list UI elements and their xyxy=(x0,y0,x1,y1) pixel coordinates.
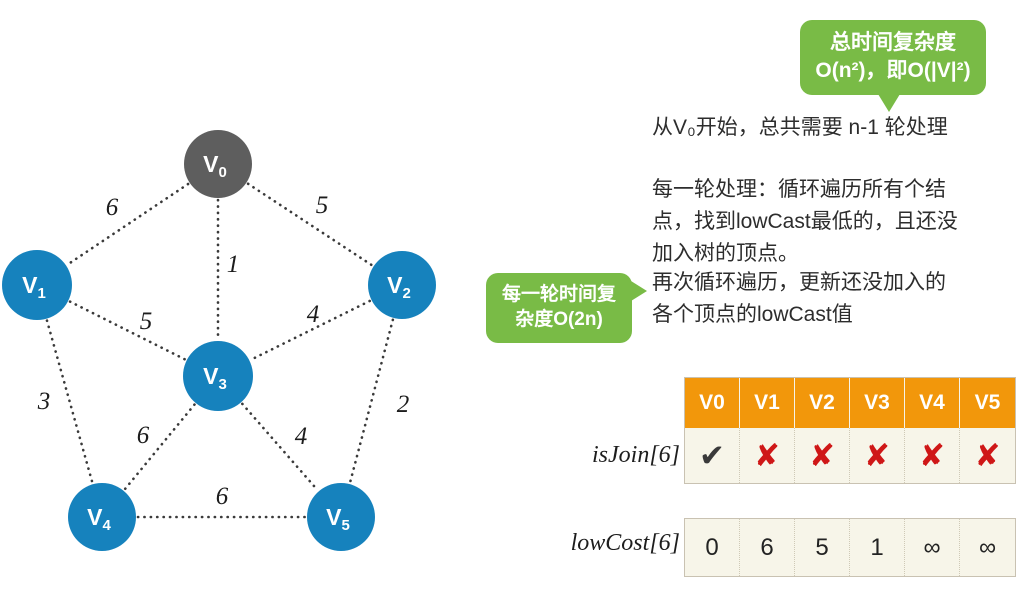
edge-weight-v3-v4: 6 xyxy=(137,422,150,449)
vertex-header-cell: V5 xyxy=(960,378,1015,428)
edge-weight-v1-v3: 5 xyxy=(140,308,153,335)
check-icon: ✔ xyxy=(699,440,725,471)
callout-round-line1: 每一轮时间复 xyxy=(492,282,626,307)
graph-edge-v1-v4 xyxy=(47,321,92,483)
lowcost-cell-v5: ∞ xyxy=(960,519,1015,576)
note-line: 各个顶点的lowCast值 xyxy=(652,299,1012,331)
lowcost-value-row: 0651∞∞ xyxy=(684,518,1016,577)
isjoin-row-label: isJoin[6] xyxy=(500,442,680,469)
isjoin-cell-v5: ✘ xyxy=(960,428,1015,483)
callout-tail-right xyxy=(631,281,647,301)
edge-weight-v2-v3: 4 xyxy=(307,301,320,328)
lowcost-cell-v0: 0 xyxy=(685,519,740,576)
graph-node-v5[interactable]: V5 xyxy=(307,483,375,551)
isjoin-value-row: ✔✘✘✘✘✘ xyxy=(684,428,1016,484)
vertex-header-cell: V0 xyxy=(685,378,740,428)
cross-icon: ✘ xyxy=(754,440,780,471)
edge-weight-v4-v5: 6 xyxy=(216,483,229,510)
note-line: 从V₀开始，总共需要 n-1 轮处理 xyxy=(652,112,1012,144)
isjoin-cell-v3: ✘ xyxy=(850,428,905,483)
isjoin-cell-v1: ✘ xyxy=(740,428,795,483)
edge-weight-v0-v3: 1 xyxy=(227,251,240,278)
note-line: 加入树的顶点。 xyxy=(652,238,1012,270)
cross-icon: ✘ xyxy=(809,440,835,471)
edge-weight-v2-v5: 2 xyxy=(397,391,410,418)
isjoin-cell-v0: ✔ xyxy=(685,428,740,483)
callout-total-line1: 总时间复杂度 xyxy=(806,29,980,57)
vertex-header-cell: V2 xyxy=(795,378,850,428)
lowcost-cell-v2: 5 xyxy=(795,519,850,576)
vertex-header-cell: V3 xyxy=(850,378,905,428)
graph-node-v3[interactable]: V3 xyxy=(183,341,253,411)
vertex-header-row: V0V1V2V3V4V5 xyxy=(684,377,1016,429)
note-paragraph-3: 再次循环遍历，更新还没加入的各个顶点的lowCast值 xyxy=(652,267,1012,331)
isjoin-cell-v2: ✘ xyxy=(795,428,850,483)
graph-node-v1[interactable]: V1 xyxy=(2,250,72,320)
graph-node-v2[interactable]: V2 xyxy=(368,251,436,319)
graph-edge-v1-v3 xyxy=(70,302,185,360)
callout-per-round-complexity: 每一轮时间复 杂度O(2n) xyxy=(486,273,632,343)
note-paragraph-1: 从V₀开始，总共需要 n-1 轮处理 xyxy=(652,112,1012,144)
graph-edge-v3-v4 xyxy=(125,405,195,490)
right-panel: 总时间复杂度 O(n²)，即O(|V|²) 每一轮时间复 杂度O(2n) 从V₀… xyxy=(470,0,1029,599)
cross-icon: ✘ xyxy=(919,440,945,471)
lowcost-cell-v4: ∞ xyxy=(905,519,960,576)
note-paragraph-2: 每一轮处理：循环遍历所有个结点，找到lowCast最低的，且还没加入树的顶点。 xyxy=(652,174,1012,270)
vertex-header-cell: V4 xyxy=(905,378,960,428)
cross-icon: ✘ xyxy=(975,440,1001,471)
graph-edge-v0-v1 xyxy=(68,184,188,264)
note-line: 每一轮处理：循环遍历所有个结 xyxy=(652,174,1012,206)
cross-icon: ✘ xyxy=(864,440,890,471)
lowcost-cell-v3: 1 xyxy=(850,519,905,576)
edge-weight-v0-v1: 6 xyxy=(106,194,119,221)
callout-total-line2: O(n²)，即O(|V|²) xyxy=(806,57,980,85)
lowcost-row-label: lowCost[6] xyxy=(490,530,680,557)
graph-svg: V0V1V2V3V4V5 6515432646 xyxy=(0,0,470,599)
note-line: 点，找到lowCast最低的，且还没 xyxy=(652,206,1012,238)
callout-total-complexity: 总时间复杂度 O(n²)，即O(|V|²) xyxy=(800,20,986,95)
edge-weight-v3-v5: 4 xyxy=(295,423,308,450)
vertex-header-cell: V1 xyxy=(740,378,795,428)
callout-tail-down xyxy=(878,94,900,112)
note-line: 再次循环遍历，更新还没加入的 xyxy=(652,267,1012,299)
edge-weight-v1-v4: 3 xyxy=(37,388,51,415)
isjoin-cell-v4: ✘ xyxy=(905,428,960,483)
graph-node-v4[interactable]: V4 xyxy=(68,483,136,551)
lowcost-cell-v1: 6 xyxy=(740,519,795,576)
callout-round-line2: 杂度O(2n) xyxy=(492,307,626,332)
edge-weight-v0-v2: 5 xyxy=(316,192,329,219)
graph-edge-v2-v5 xyxy=(350,320,393,482)
graph-panel: V0V1V2V3V4V5 6515432646 xyxy=(0,0,470,599)
graph-edge-v0-v2 xyxy=(248,184,372,265)
graph-node-v0[interactable]: V0 xyxy=(184,130,252,198)
